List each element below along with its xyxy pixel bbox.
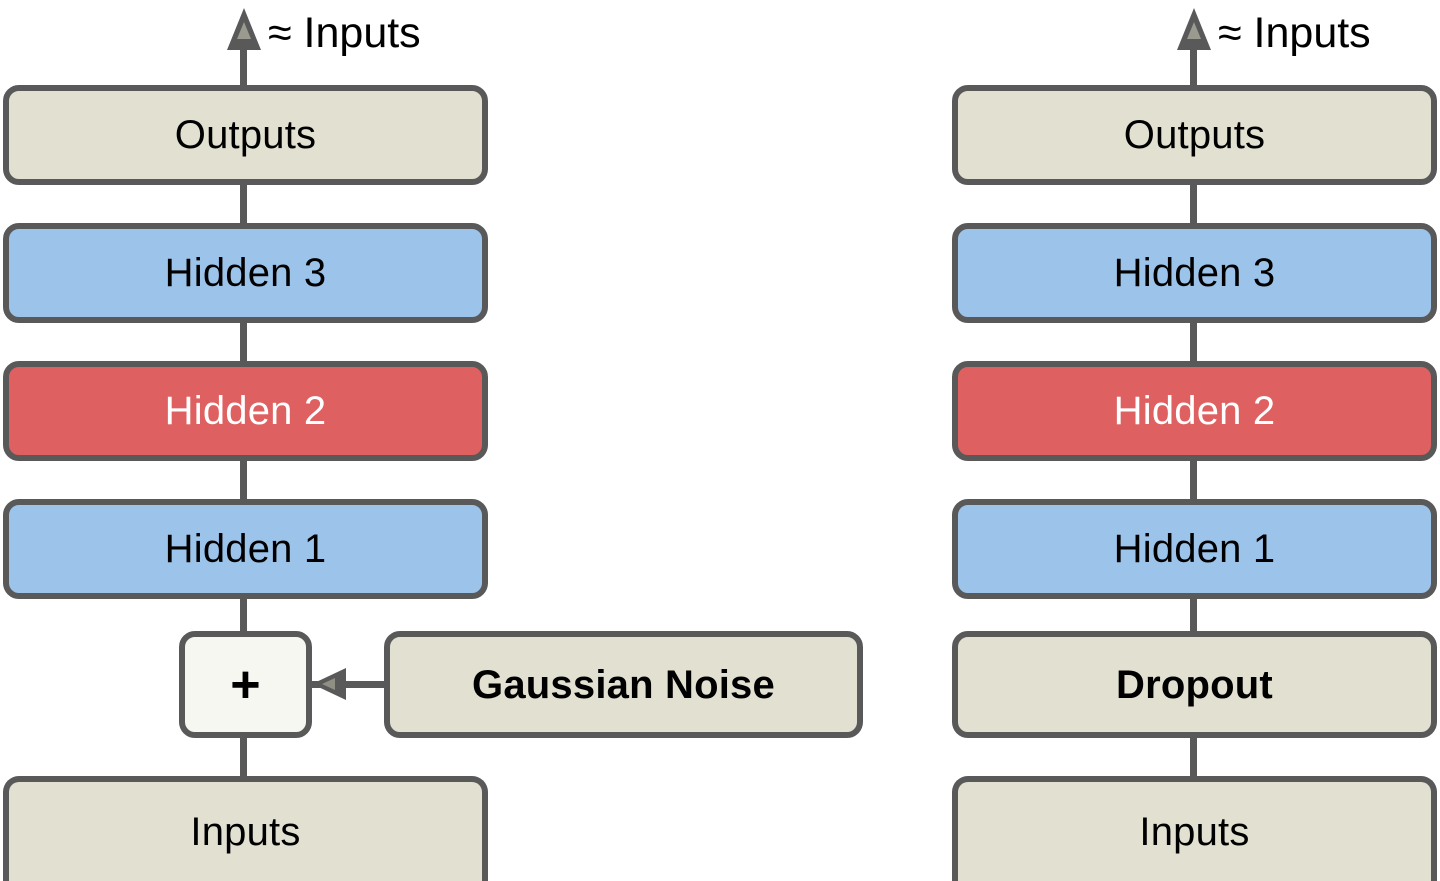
right-node-hidden-1[interactable]: Hidden 1: [952, 499, 1437, 599]
right-output-arrowhead: [1177, 8, 1211, 50]
left-node-noise-adder[interactable]: +: [179, 631, 312, 738]
left-output-arrowhead-inner: [237, 22, 251, 39]
right-node-hidden-2[interactable]: Hidden 2: [952, 361, 1437, 461]
left-node-inputs[interactable]: Inputs: [3, 776, 488, 881]
left-connector-outputs-hidden3: [240, 178, 247, 228]
left-node-hidden-2[interactable]: Hidden 2: [3, 361, 488, 461]
dropout-box[interactable]: Dropout: [952, 631, 1437, 738]
noise-injection-arrowhead: [312, 668, 346, 700]
left-approx-inputs-label: ≈ Inputs: [268, 12, 421, 55]
right-approx-inputs-label: ≈ Inputs: [1218, 12, 1371, 55]
left-node-outputs[interactable]: Outputs: [3, 85, 488, 185]
right-connector-outputs-hidden3: [1190, 178, 1197, 228]
diagram-canvas: ≈ Inputs Outputs Hidden 3 Hidden 2 Hidde…: [0, 0, 1440, 881]
noise-injection-arrowhead-inner: [322, 678, 335, 690]
left-output-arrowhead: [227, 8, 261, 50]
right-output-arrowhead-inner: [1187, 22, 1201, 39]
right-node-inputs[interactable]: Inputs: [952, 776, 1437, 881]
gaussian-noise-box[interactable]: Gaussian Noise: [384, 631, 863, 738]
right-node-outputs[interactable]: Outputs: [952, 85, 1437, 185]
left-node-hidden-3[interactable]: Hidden 3: [3, 223, 488, 323]
left-node-hidden-1[interactable]: Hidden 1: [3, 499, 488, 599]
right-node-hidden-3[interactable]: Hidden 3: [952, 223, 1437, 323]
